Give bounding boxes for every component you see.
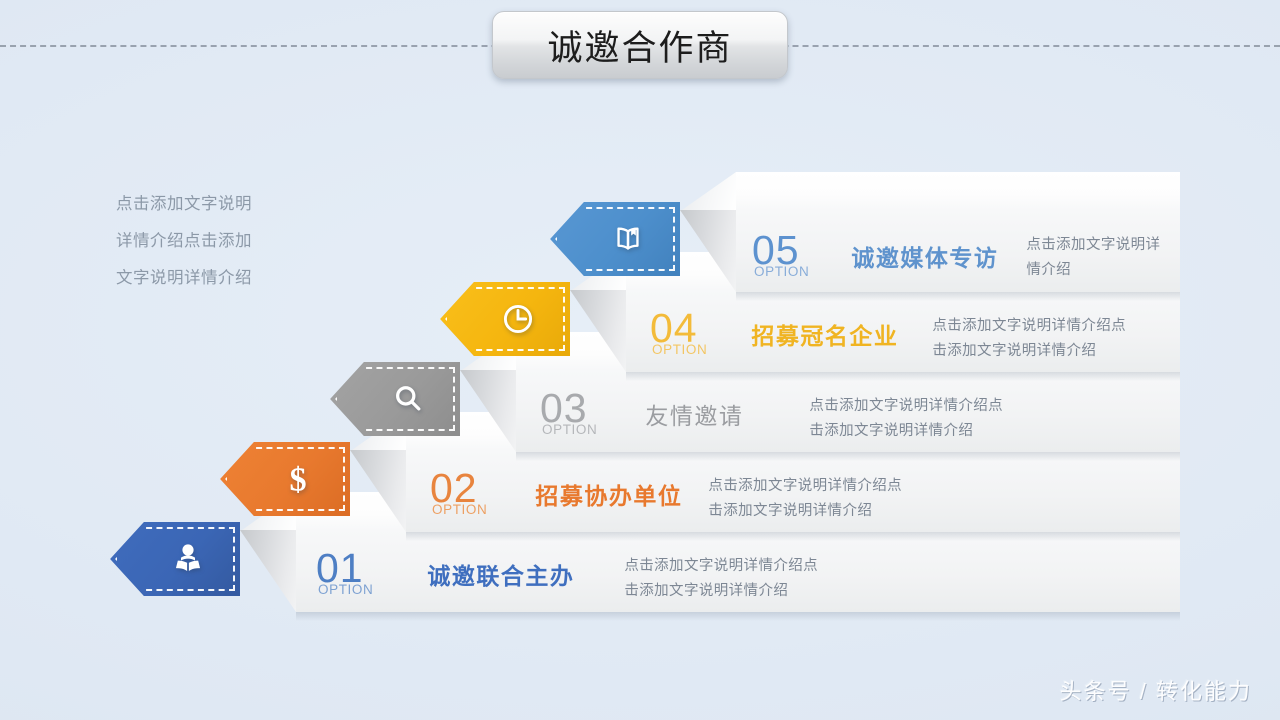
- step-option-label-03: OPTION: [542, 423, 597, 437]
- step-heading-02: 招募协办单位: [535, 477, 682, 511]
- step-heading-04: 招募冠名企业: [751, 317, 898, 351]
- step-text-04: 04 OPTION 招募冠名企业 点击添加文字说明详情介绍点 击添加文字说明详情…: [650, 308, 1126, 364]
- step-number-block-02: 02 OPTION: [430, 468, 487, 517]
- step-text-05: 05 OPTION 诚邀媒体专访 点击添加文字说明详 情介绍: [752, 230, 1160, 283]
- step-heading-01: 诚邀联合主办: [427, 557, 574, 591]
- step-heading-03: 友情邀请: [645, 397, 743, 431]
- magnifier-icon: [390, 381, 426, 417]
- step-number-block-03: 03 OPTION: [540, 388, 597, 437]
- step-desc-01: 点击添加文字说明详情介绍点 击添加文字说明详情介绍: [624, 554, 818, 604]
- step-desc-line-01-2: 击添加文字说明详情介绍: [624, 579, 818, 604]
- step-number-block-01: 01 OPTION: [316, 548, 373, 597]
- svg-text:$: $: [289, 462, 306, 497]
- step-option-label-04: OPTION: [652, 343, 707, 357]
- step-desc-line-04-1: 点击添加文字说明详情介绍点: [932, 314, 1126, 339]
- step-desc-02: 点击添加文字说明详情介绍点 击添加文字说明详情介绍: [708, 474, 902, 524]
- step-desc-03: 点击添加文字说明详情介绍点 击添加文字说明详情介绍: [809, 394, 1003, 444]
- step-desc-05: 点击添加文字说明详 情介绍: [1026, 233, 1160, 283]
- step-desc-line-02-1: 点击添加文字说明详情介绍点: [708, 474, 902, 499]
- step-option-label-01: OPTION: [318, 583, 373, 597]
- watermark: 头条号 / 转化能力: [1060, 674, 1252, 706]
- step-number-block-05: 05 OPTION: [752, 230, 809, 279]
- step-option-label-05: OPTION: [754, 265, 809, 279]
- dollar-sign-icon: $: [280, 461, 316, 497]
- step-text-02: 02 OPTION 招募协办单位 点击添加文字说明详情介绍点 击添加文字说明详情…: [430, 468, 902, 524]
- slide-canvas: 诚邀合作商 点击添加文字说明 详情介绍点击添加 文字说明详情介绍: [0, 0, 1280, 720]
- step-desc-04: 点击添加文字说明详情介绍点 击添加文字说明详情介绍: [932, 314, 1126, 364]
- clock-icon: [500, 301, 536, 337]
- step-text-03: 03 OPTION 友情邀请 点击添加文字说明详情介绍点 击添加文字说明详情介绍: [540, 388, 1003, 444]
- step-desc-line-05-2: 情介绍: [1026, 258, 1160, 283]
- person-reading-icon: [170, 541, 206, 577]
- step-desc-line-02-2: 击添加文字说明详情介绍: [708, 499, 902, 524]
- step-desc-line-05-1: 点击添加文字说明详: [1026, 233, 1160, 258]
- step-heading-05: 诚邀媒体专访: [851, 239, 998, 273]
- step-desc-line-03-1: 点击添加文字说明详情介绍点: [809, 394, 1003, 419]
- step-desc-line-04-2: 击添加文字说明详情介绍: [932, 339, 1126, 364]
- step-text-01: 01 OPTION 诚邀联合主办 点击添加文字说明详情介绍点 击添加文字说明详情…: [316, 548, 818, 604]
- step-desc-line-01-1: 点击添加文字说明详情介绍点: [624, 554, 818, 579]
- step-number-block-04: 04 OPTION: [650, 308, 707, 357]
- step-desc-line-03-2: 击添加文字说明详情介绍: [809, 419, 1003, 444]
- open-book-icon: [610, 221, 646, 257]
- step-option-label-02: OPTION: [432, 503, 487, 517]
